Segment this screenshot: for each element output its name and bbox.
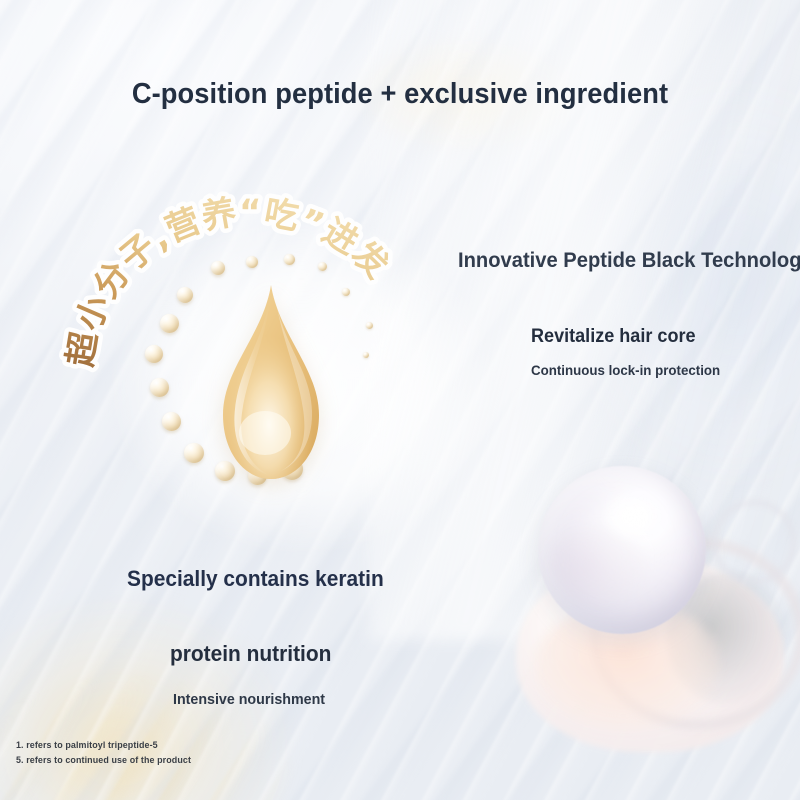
page-title: C-position peptide + exclusive ingredien…: [24, 78, 776, 111]
bubble: [150, 378, 169, 397]
right-block-caption: Continuous lock-in protection: [531, 362, 720, 378]
bubble: [318, 262, 327, 271]
bubble: [366, 322, 373, 329]
bubble: [363, 352, 369, 358]
bubble: [284, 254, 295, 265]
right-block-heading: Innovative Peptide Black Technology: [458, 249, 800, 273]
footnote-1: 1. refers to palmitoyl tripeptide-5: [16, 739, 191, 754]
right-block-subheading: Revitalize hair core: [531, 326, 696, 348]
footnote-2: 5. refers to continued use of the produc…: [16, 754, 191, 769]
footnotes: 1. refers to palmitoyl tripeptide-5 5. r…: [16, 739, 191, 768]
bubble: [177, 287, 193, 303]
left-block-subheading: protein nutrition: [170, 641, 331, 667]
bubble: [211, 261, 225, 275]
bubble: [342, 288, 350, 296]
pearl-soft-haze: [492, 440, 792, 750]
bubble: [145, 345, 163, 363]
bubble: [184, 443, 204, 463]
pearl-illustration: [498, 452, 800, 762]
bubble: [246, 256, 258, 268]
bubble: [162, 412, 181, 431]
left-block-heading: Specially contains keratin: [127, 566, 384, 592]
serum-droplet-icon: [219, 283, 323, 483]
left-block-caption: Intensive nourishment: [173, 691, 325, 708]
bubble: [160, 314, 179, 333]
promo-banner: C-position peptide + exclusive ingredien…: [0, 0, 800, 800]
